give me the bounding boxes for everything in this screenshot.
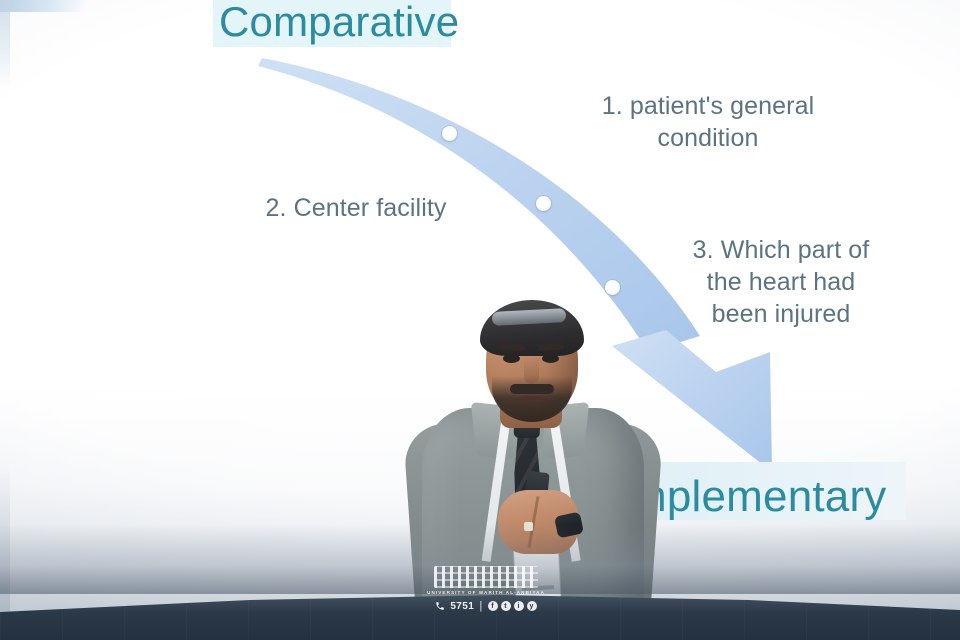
slide-bullet-2: 2. Center facility	[238, 192, 474, 224]
watermark-contact-line: 5751 | f t i y	[425, 600, 547, 612]
watermark-subtitle: UNIVERSITY OF WARITH AL-ANBIYAA	[425, 590, 547, 595]
speaker-eye-left	[503, 354, 520, 363]
youtube-icon: y	[527, 601, 537, 611]
arrow-node-3	[605, 280, 620, 295]
facebook-icon: f	[488, 601, 498, 611]
arrow-node-1	[442, 126, 457, 141]
slide-bullet-1-line2: condition	[563, 122, 853, 154]
slide-bullet-3-line2: the heart had	[655, 266, 907, 298]
speaker-hair	[480, 300, 584, 356]
slide-bullet-3-line1: 3. Which part of	[655, 234, 907, 266]
slide-bullet-3: 3. Which part of the heart had been inju…	[655, 234, 907, 330]
slide-bullet-1-line1: 1. patient's general	[563, 90, 853, 122]
watermark-phone: 5751	[450, 601, 474, 612]
telegram-icon: t	[501, 601, 511, 611]
phone-icon	[435, 601, 445, 611]
arrow-node-2	[536, 196, 551, 211]
presentation-screenshot: Comparative mplementary 1. patient's gen…	[0, 0, 960, 640]
slide-heading-complementary: mplementary	[630, 472, 887, 522]
watermark-separator: |	[479, 600, 482, 612]
instagram-icon: i	[514, 601, 524, 611]
watermark-social-icons: f t i y	[488, 601, 537, 611]
speaker-mustache	[510, 384, 554, 394]
slide-bullet-3-line3: been injured	[655, 298, 907, 330]
university-logo-icon	[434, 566, 538, 588]
slide-bullet-2-line1: 2. Center facility	[238, 192, 474, 224]
slide-bullet-1: 1. patient's general condition	[563, 90, 853, 154]
watermark: UNIVERSITY OF WARITH AL-ANBIYAA 5751 | f…	[425, 566, 547, 612]
speaker-eye-right	[542, 354, 559, 363]
speaker-nose	[524, 358, 539, 384]
speaker-mouth	[520, 396, 544, 402]
slide-heading-comparative: Comparative	[219, 0, 459, 46]
